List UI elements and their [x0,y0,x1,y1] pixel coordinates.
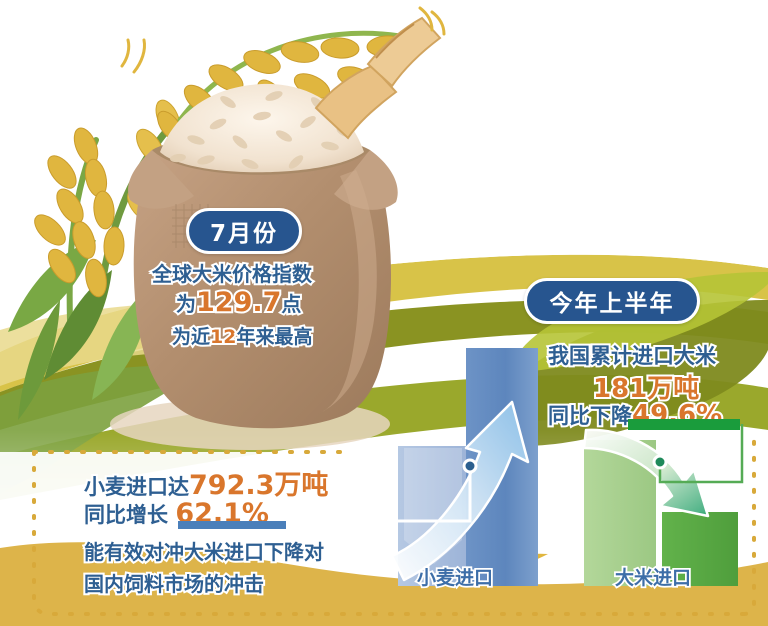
wheat-note-line-1: 能有效对冲大米进口下降对 [84,536,324,565]
record-prefix: 为近 [172,326,210,348]
badge-first-half-year-label: 今年上半年 [550,284,675,318]
rice-price-index-line: 全球大米价格指数 [152,258,312,287]
rice-price-record-line: 为近12年来最高 [172,322,312,349]
record-years: 12 [210,326,236,348]
rice-change-underline [628,419,740,430]
record-suffix: 年来最高 [236,326,312,348]
rice-price-value-line: 为129.7点 [176,287,301,318]
badge-july: 7月份 [186,208,302,254]
rice-change-label: 同比下降 [548,404,632,428]
wheat-import-amount-line: 小麦进口达792.3万吨 [84,463,328,502]
badge-july-label: 7月份 [210,214,278,248]
badge-first-half-year: 今年上半年 [524,278,700,324]
wheat-note-line-2: 国内饲料市场的冲击 [84,568,264,597]
rice-price-unit: 点 [281,292,301,316]
wheat-amount-prefix: 小麦进口达 [84,475,189,499]
wheat-amount-value: 792.3 [189,470,274,501]
wheat-change-label: 同比增长 [84,503,168,527]
rice-import-lead-line: 我国累计进口大米 [548,340,716,370]
chart-caption-wheat: 小麦进口 [417,563,493,590]
wheat-connector-dot [464,460,476,472]
rice-price-prefix: 为 [176,292,196,316]
wheat-change-underline [178,521,286,529]
rice-price-value: 129.7 [196,287,281,318]
chart-caption-rice: 大米进口 [615,563,691,590]
infographic-canvas: 7月份 全球大米价格指数 为129.7点 为近12年来最高 今年上半年 我国累计… [0,0,768,626]
wheat-amount-unit: 万吨 [274,470,328,501]
rice-connector-dot [654,456,666,468]
